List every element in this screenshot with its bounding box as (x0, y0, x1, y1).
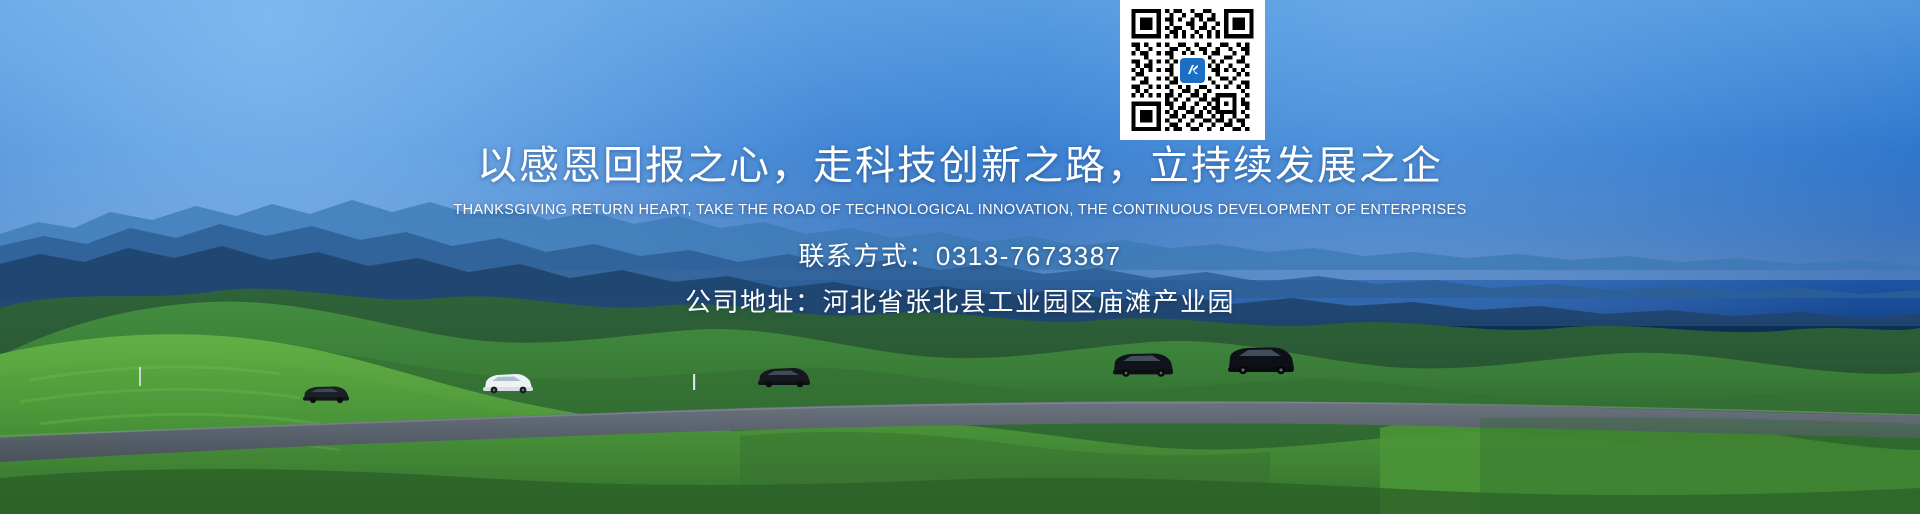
white-car (480, 370, 536, 399)
dark-car-2 (755, 364, 813, 393)
dark-suv-1 (1110, 350, 1176, 383)
road (0, 360, 1920, 514)
promo-banner: 以感恩回报之心，走科技创新之路，立持续发展之企 THANKSGIVING RET… (0, 0, 1920, 514)
roadside-post-2 (136, 366, 144, 391)
roadside-post (690, 372, 698, 395)
logo-glyph-icon (1185, 62, 1201, 78)
dark-car-1 (300, 382, 352, 409)
company-logo-icon (1178, 55, 1208, 85)
dark-suv-2 (1225, 344, 1297, 381)
qr-code[interactable] (1120, 0, 1265, 140)
